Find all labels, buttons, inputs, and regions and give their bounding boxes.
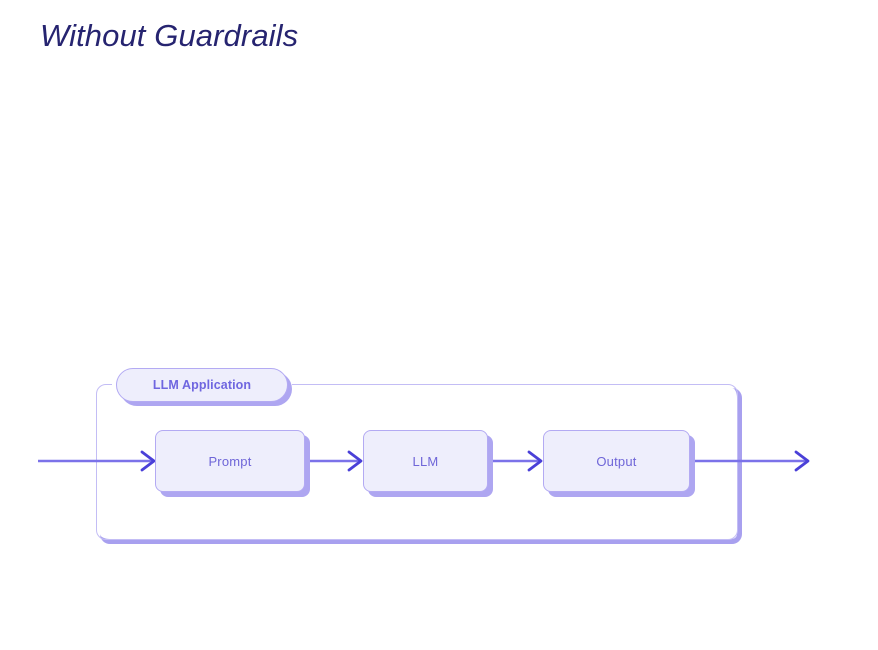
llm-application-flow-diagram: Prompt LLM Output LLM Application xyxy=(0,0,878,650)
slide-canvas: Without Guardrails xyxy=(0,0,878,650)
node-output[interactable]: Output xyxy=(543,430,690,492)
group-label-text: LLM Application xyxy=(153,378,251,392)
group-label-pill: LLM Application xyxy=(116,368,288,402)
node-llm[interactable]: LLM xyxy=(363,430,488,492)
node-llm-body: LLM xyxy=(363,430,488,492)
node-prompt[interactable]: Prompt xyxy=(155,430,305,492)
node-output-label: Output xyxy=(596,454,636,469)
llm-application-group-label[interactable]: LLM Application xyxy=(116,368,288,402)
node-output-body: Output xyxy=(543,430,690,492)
arrowhead-icon xyxy=(796,452,808,470)
node-prompt-body: Prompt xyxy=(155,430,305,492)
node-llm-label: LLM xyxy=(413,454,439,469)
node-prompt-label: Prompt xyxy=(208,454,251,469)
